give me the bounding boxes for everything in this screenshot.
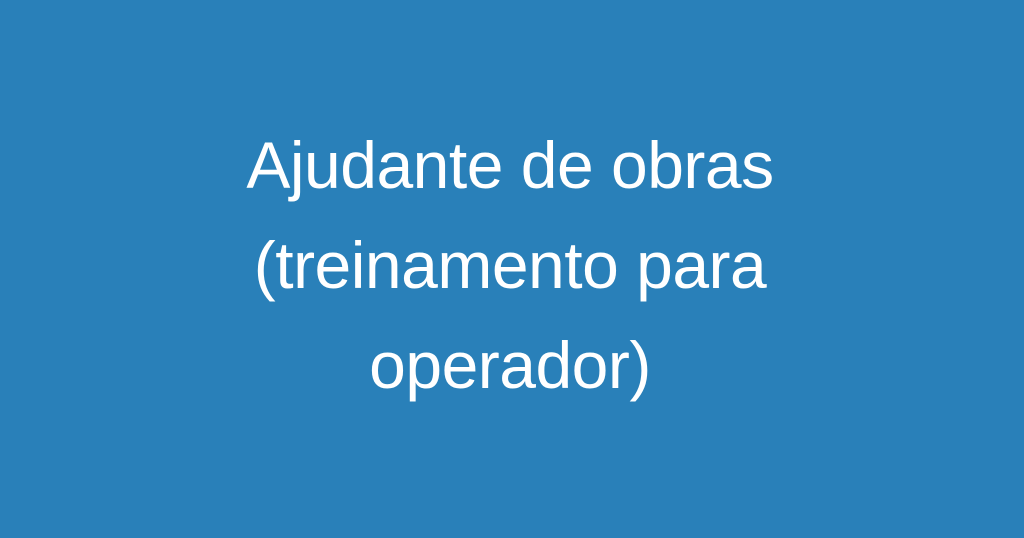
- title-block: Ajudante de obras (treinamento para oper…: [190, 115, 834, 415]
- page-title: Ajudante de obras (treinamento para oper…: [190, 115, 830, 415]
- placeholder-card: Ajudante de obras (treinamento para oper…: [0, 0, 1024, 538]
